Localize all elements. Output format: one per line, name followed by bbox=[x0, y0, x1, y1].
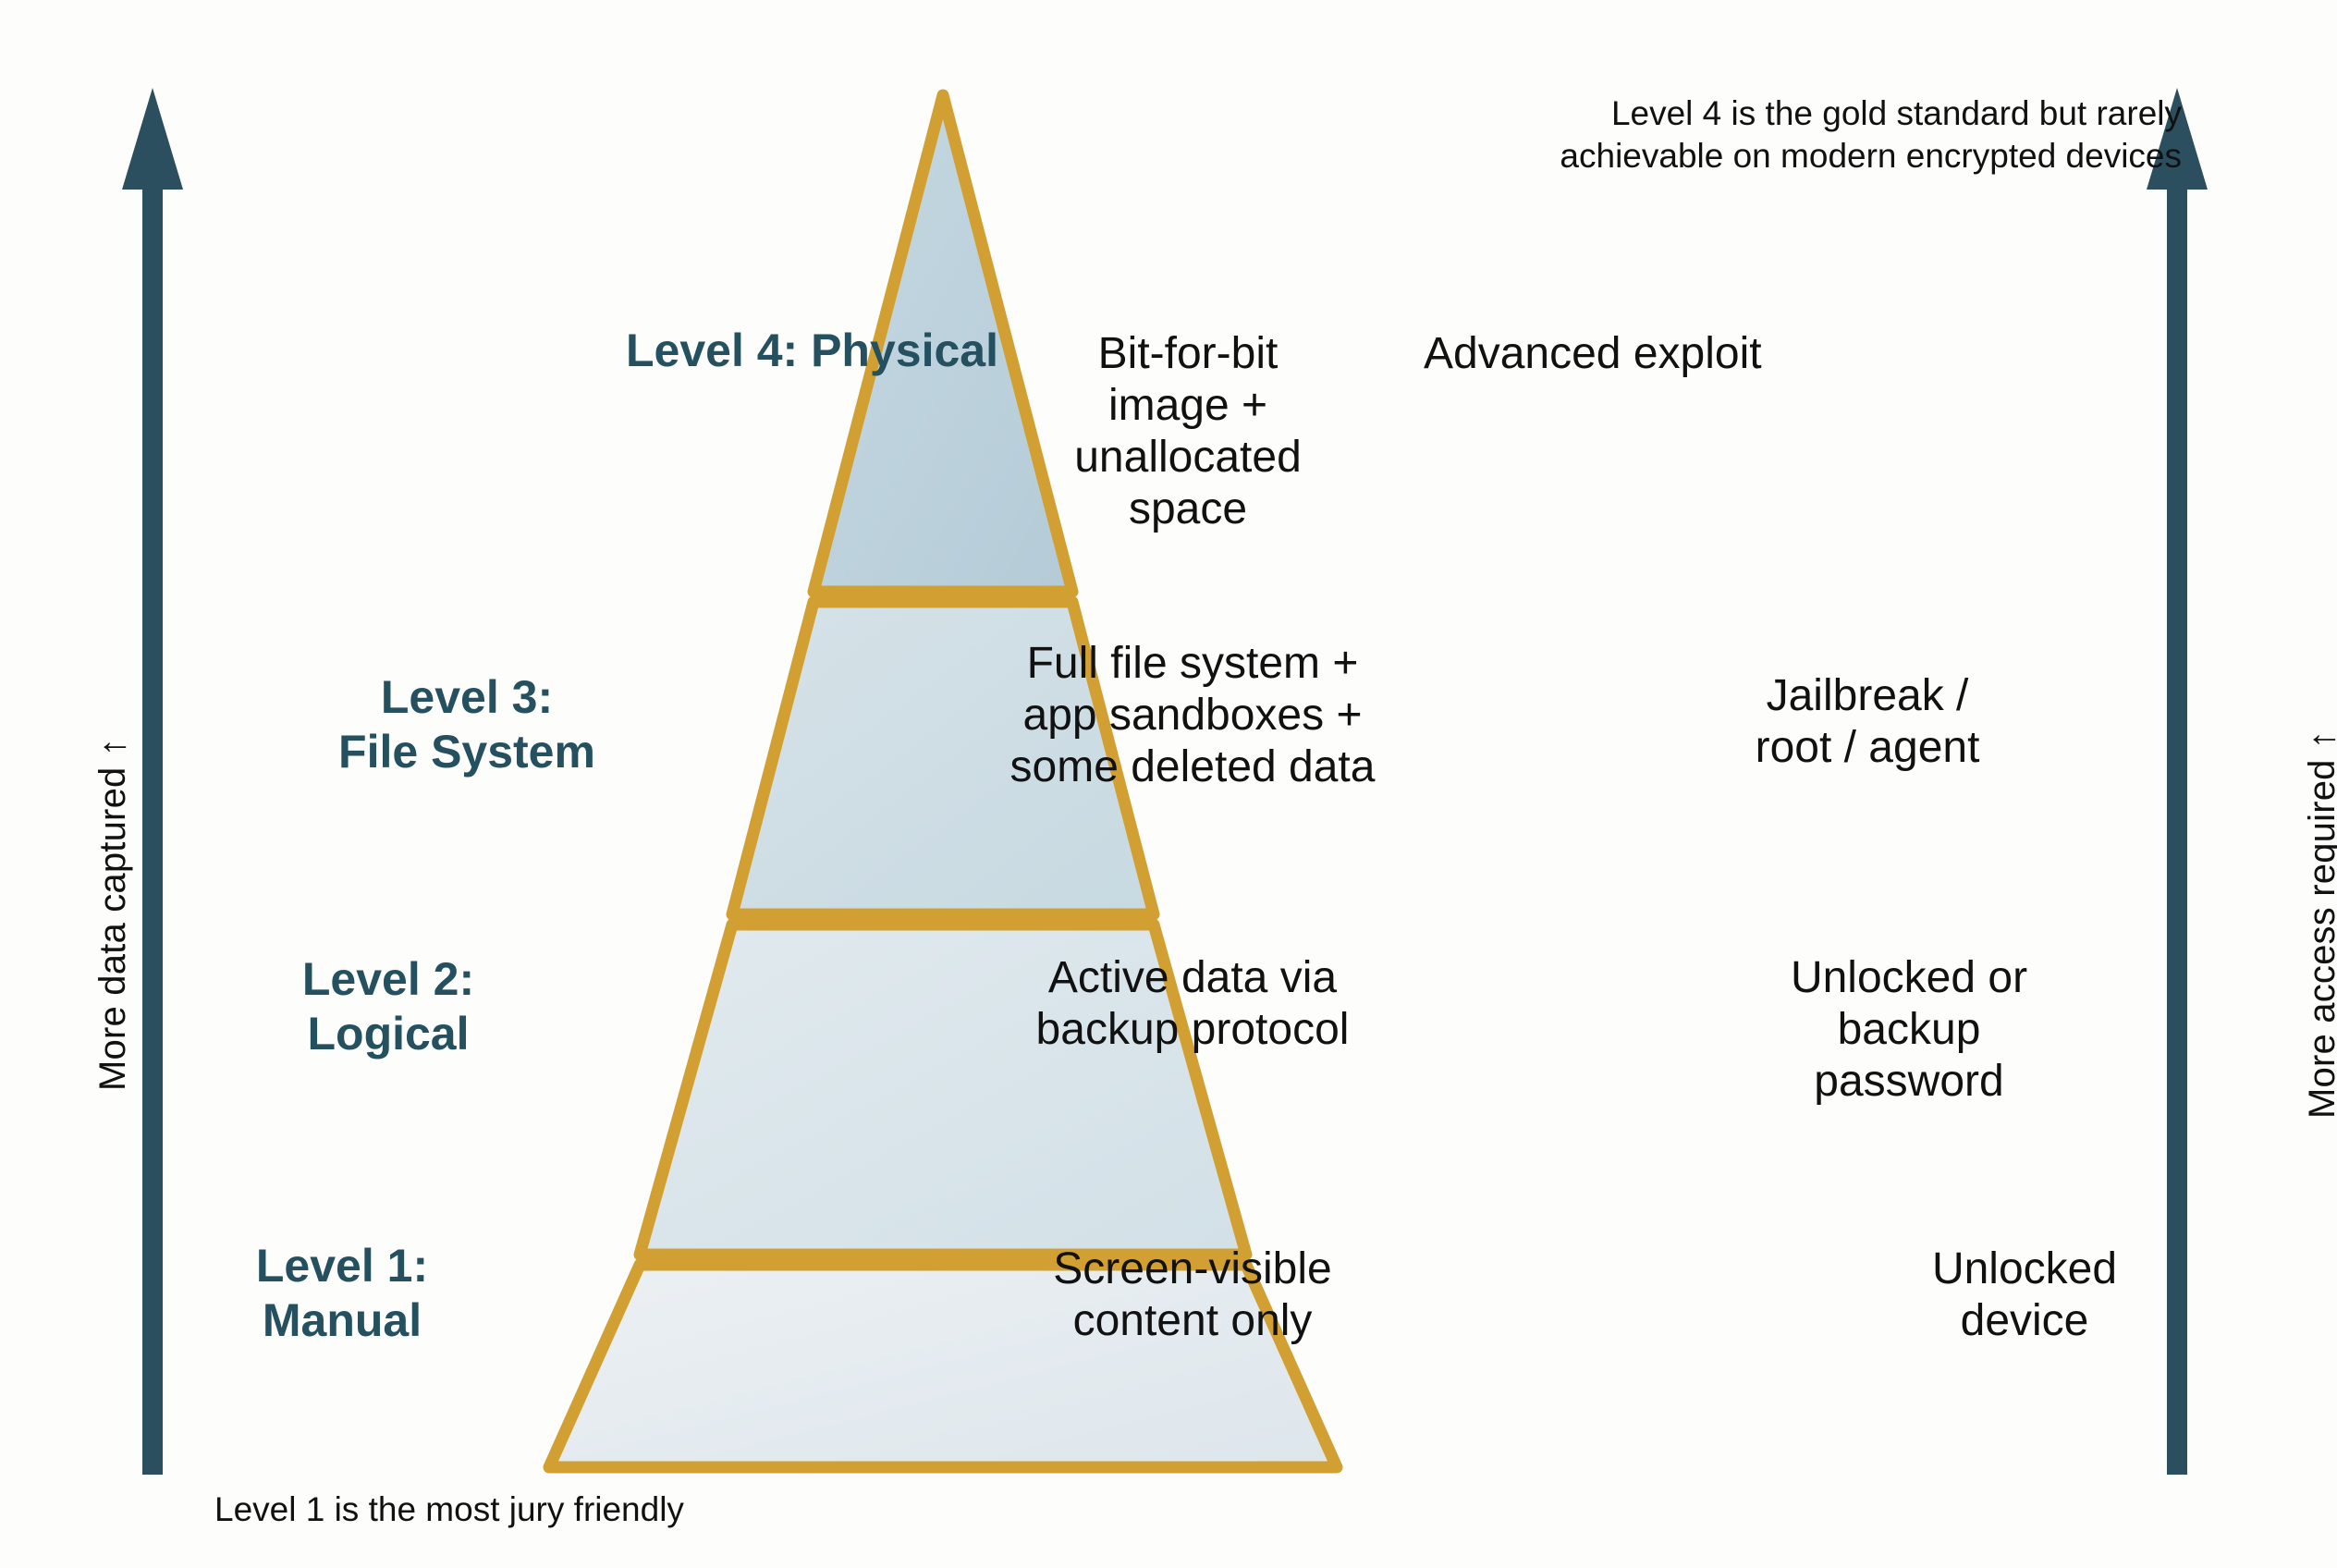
tier-left-label-level-3: Level 3: File System bbox=[250, 670, 684, 779]
left-axis-label: More data captured ↑ bbox=[92, 738, 134, 1091]
diagram-canvas: More data captured ↑ More access require… bbox=[0, 0, 2337, 1568]
tier-left-label-level-4: Level 4: Physical bbox=[351, 324, 998, 378]
tier-left-label-level-1: Level 1: Manual bbox=[125, 1239, 559, 1348]
tier-right-label-level-4: Advanced exploit bbox=[1424, 328, 1960, 380]
tier-left-label-level-2: Level 2: Logical bbox=[171, 952, 606, 1061]
tier-right-label-level-1: Unlocked device bbox=[1844, 1243, 2205, 1347]
tier-right-label-level-2: Unlocked or backup password bbox=[1715, 952, 2103, 1108]
note-bottom-left: Level 1 is the most jury friendly bbox=[214, 1490, 684, 1529]
note-top-right: Level 4 is the gold standard but rarely … bbox=[1368, 92, 2182, 178]
right-axis-label: More access required ↑ bbox=[2302, 730, 2337, 1119]
tier-right-label-level-3: Jailbreak / root / agent bbox=[1655, 670, 2080, 774]
pyramid-graphic bbox=[388, 88, 1978, 1475]
